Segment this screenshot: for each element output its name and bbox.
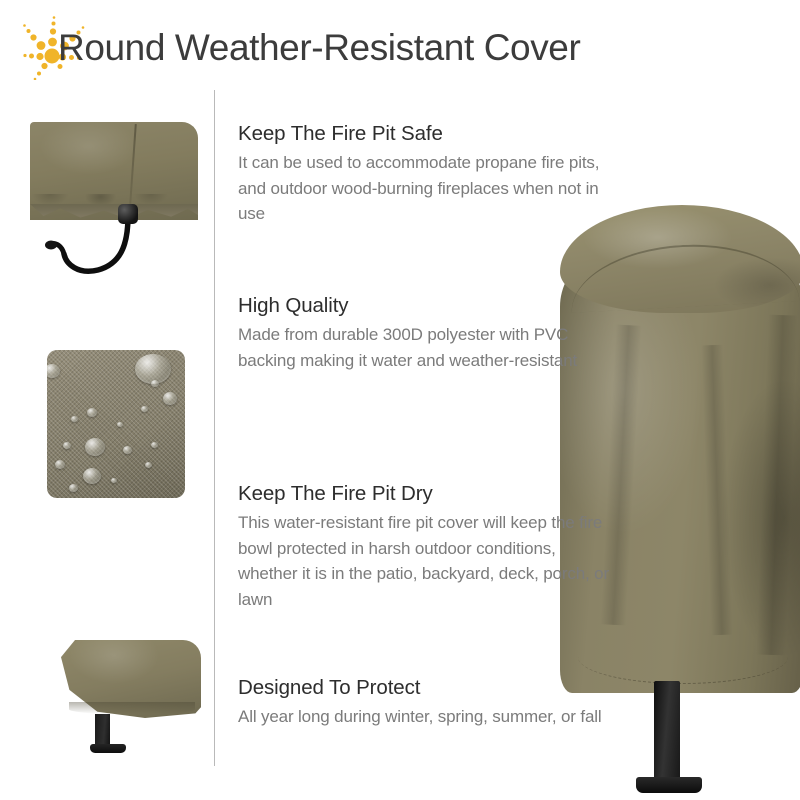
fire-pit-foot [636,777,702,793]
feature-body: This water-resistant fire pit cover will… [238,510,610,612]
water-droplet [151,380,159,387]
feature-title: High Quality [238,292,610,319]
water-droplet [163,392,177,405]
page-title: Round Weather-Resistant Cover [58,24,580,72]
thumbnail-cover-edge-with-fire-pit-leg [55,630,205,760]
water-droplet [69,484,78,492]
feature-block-keep-the-fire-pit-dry: Keep The Fire Pit Dry This water-resista… [238,480,610,612]
feature-body: All year long during winter, spring, sum… [238,704,610,730]
fabric-hem [69,702,195,714]
water-droplet [71,416,78,422]
cord-lock-toggle [118,204,138,224]
feature-title: Keep The Fire Pit Dry [238,480,610,507]
water-droplet [117,422,123,427]
water-droplet [85,438,105,456]
page-header: Round Weather-Resistant Cover [0,0,800,88]
vertical-divider [214,90,215,766]
water-droplet [123,446,132,454]
feature-block-keep-the-fire-pit-safe: Keep The Fire Pit Safe It can be used to… [238,120,610,227]
water-droplet [47,364,60,378]
feature-block-designed-to-protect: Designed To Protect All year long during… [238,674,610,730]
water-droplet [151,442,158,448]
fire-pit-leg [654,681,680,791]
water-droplet [145,462,152,468]
feature-body: Made from durable 300D polyester with PV… [238,322,610,373]
water-droplet [111,478,117,483]
thumbnail-cover-drawstring-cord-lock [20,112,200,282]
water-droplet [87,408,97,417]
water-droplet [55,460,65,469]
water-droplet [141,406,148,412]
feature-block-high-quality: High Quality Made from durable 300D poly… [238,292,610,373]
water-droplet [63,442,71,449]
drawstring-cord [20,112,200,282]
feature-title: Designed To Protect [238,674,610,701]
feature-title: Keep The Fire Pit Safe [238,120,610,147]
feature-body: It can be used to accommodate propane fi… [238,150,610,227]
fire-pit-foot [90,744,126,753]
thumbnail-water-beading-fabric-swatch [47,350,185,498]
water-droplet [83,468,101,484]
